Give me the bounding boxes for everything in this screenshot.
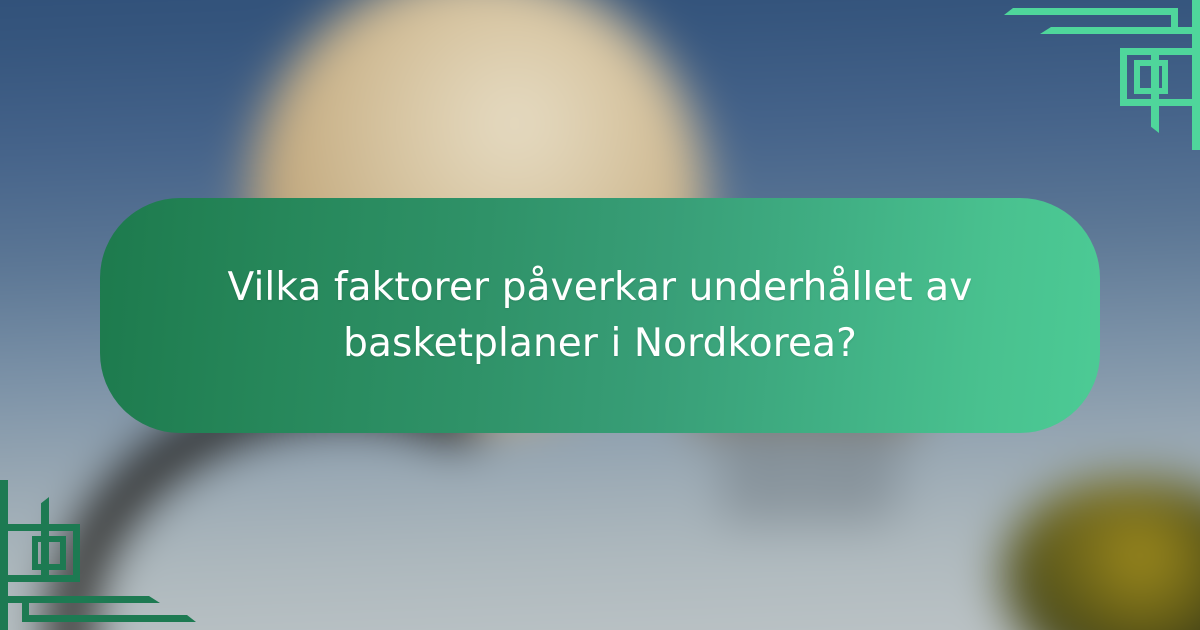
- bracket-square-outline-2: [32, 536, 66, 570]
- bracket-hook-top: [1120, 48, 1192, 55]
- bracket-hook-bottom-2: [8, 575, 80, 582]
- corner-bracket-top-right-icon: [980, 0, 1200, 150]
- bracket-bar-top-short: [1040, 27, 1200, 34]
- bracket-hook-right: [73, 524, 80, 582]
- bracket-corner-lower-vertical: [22, 602, 29, 622]
- bracket-edge-vertical-left: [0, 480, 8, 630]
- corner-bracket-bottom-left-icon: [0, 480, 220, 630]
- question-text: Vilka faktorer påverkar underhållet av b…: [205, 260, 995, 372]
- bracket-hook-left: [1120, 48, 1127, 106]
- bracket-stalk-vertical: [1151, 55, 1159, 133]
- bracket-edge-vertical: [1192, 0, 1200, 150]
- bracket-bar-bottom-long: [22, 615, 196, 622]
- bracket-stalk-vertical-2: [41, 497, 49, 575]
- bracket-corner-upper-vertical: [1171, 8, 1178, 28]
- poster-canvas: Vilka faktorer påverkar underhållet av b…: [0, 0, 1200, 630]
- bracket-bar-top-long: [1004, 8, 1178, 15]
- question-card: Vilka faktorer påverkar underhållet av b…: [100, 198, 1100, 433]
